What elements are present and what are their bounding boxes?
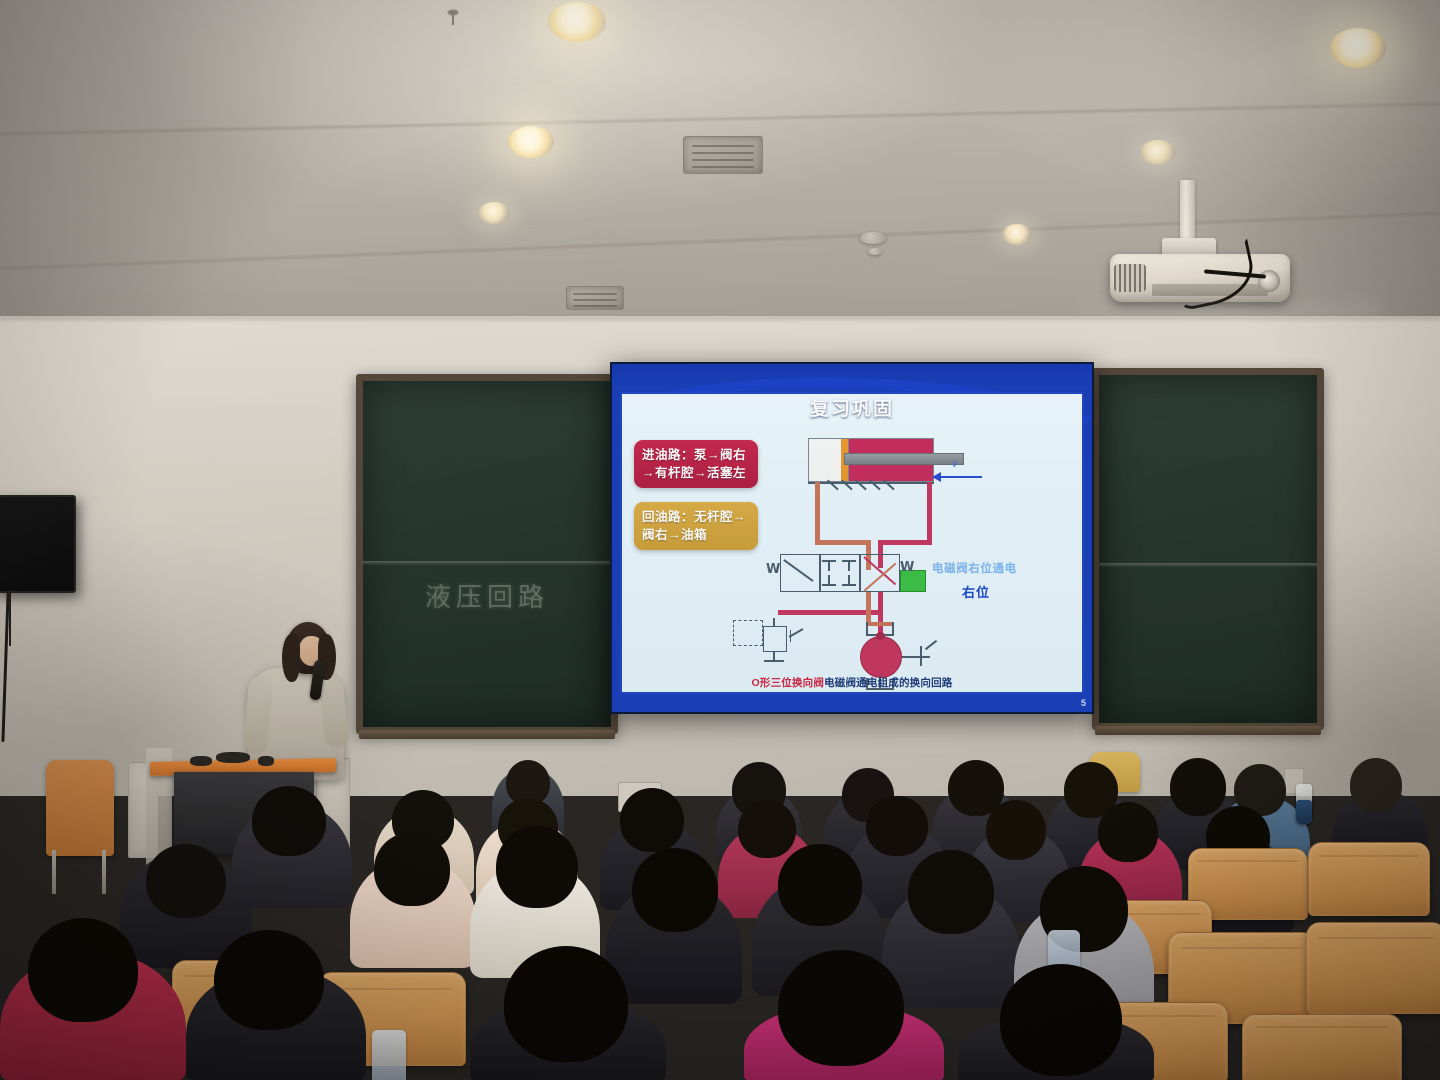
audience-head [778, 950, 904, 1066]
ceiling-downlight [548, 2, 606, 42]
monitor-cable [9, 590, 11, 646]
slide-number: 5 [1081, 698, 1086, 708]
hvac-vent-icon [683, 136, 763, 174]
audience-head [374, 832, 450, 906]
velocity-label: v [952, 458, 958, 470]
water-bottle [372, 1030, 406, 1080]
podium-item [216, 752, 250, 763]
hvac-vent-icon [566, 286, 624, 310]
smoke-detector-icon [860, 232, 886, 244]
ceiling-downlight [1330, 28, 1386, 68]
audience-head [496, 826, 578, 908]
slide-box-return-line2: 阀右→油箱 [642, 526, 750, 544]
lecture-seat[interactable] [1306, 922, 1440, 1014]
slide-box-return-line1: 回油路：无杆腔→ [642, 508, 750, 526]
audience-head [986, 800, 1046, 860]
audience-head [738, 800, 796, 858]
projector-vent-icon [1114, 264, 1146, 292]
slide-title: 复习巩固 [612, 394, 1092, 421]
ceiling-projector [1100, 180, 1330, 315]
slide-caption: O形三位换向阀电磁阀通电组成的换向回路 [612, 675, 1092, 690]
audience-head [1350, 758, 1402, 812]
audience-head [214, 930, 324, 1030]
audience-head [504, 946, 628, 1062]
side-chair[interactable] [42, 760, 118, 890]
wall-monitor[interactable] [0, 495, 76, 593]
audience-head [1098, 802, 1158, 862]
slide-caption-highlight: O形三位换向阀 [752, 677, 825, 689]
valve-position-note: 右位 [962, 582, 990, 601]
audience-head [908, 850, 994, 934]
slide-box-inlet: 进油路：泵→阀右 →有杆腔→活塞左 [634, 440, 758, 488]
audience-head [632, 848, 718, 932]
podium-item [258, 756, 274, 766]
audience-head [28, 918, 138, 1022]
lecture-seat[interactable] [1308, 842, 1430, 916]
audience-head [620, 788, 684, 852]
valve-state-note: 电磁阀右位通电 [932, 560, 1017, 576]
lecture-hall-photo: 液压回路 复习巩固 进油路：泵→阀右 →有杆腔→活塞左 回油路：无杆腔→ 阀右→… [0, 0, 1440, 1080]
audience-head [1000, 964, 1122, 1076]
audience-head [146, 844, 226, 918]
water-bottle [1296, 800, 1312, 824]
slide-caption-rest: 电磁阀通电组成的换向回路 [824, 677, 952, 689]
sprinkler-icon [447, 10, 459, 26]
slide-box-inlet-line2: →有杆腔→活塞左 [642, 464, 750, 482]
slide-box-inlet-line1: 进油路：泵→阀右 [642, 446, 750, 464]
ceiling-downlight [478, 202, 510, 224]
audience-head [252, 786, 326, 856]
blackboard-left: 液压回路 [356, 374, 618, 734]
blackboard-chalk-text: 液压回路 [425, 577, 549, 614]
slide-box-return: 回油路：无杆腔→ 阀右→油箱 [634, 502, 758, 550]
slide-content: 复习巩固 进油路：泵→阀右 →有杆腔→活塞左 回油路：无杆腔→ 阀右→油箱 [612, 364, 1092, 712]
ceiling-downlight [1002, 224, 1032, 245]
audience-head [1170, 758, 1226, 816]
podium-item [190, 756, 212, 766]
audience-head [866, 796, 928, 856]
lecture-seat[interactable] [1242, 1014, 1402, 1080]
presenter-hair [282, 634, 300, 682]
ceiling-downlight [508, 126, 554, 158]
smoke-detector-icon [868, 248, 882, 255]
ceiling-downlight [1140, 140, 1176, 165]
blackboard-right [1092, 368, 1324, 730]
audience-head [778, 844, 862, 926]
